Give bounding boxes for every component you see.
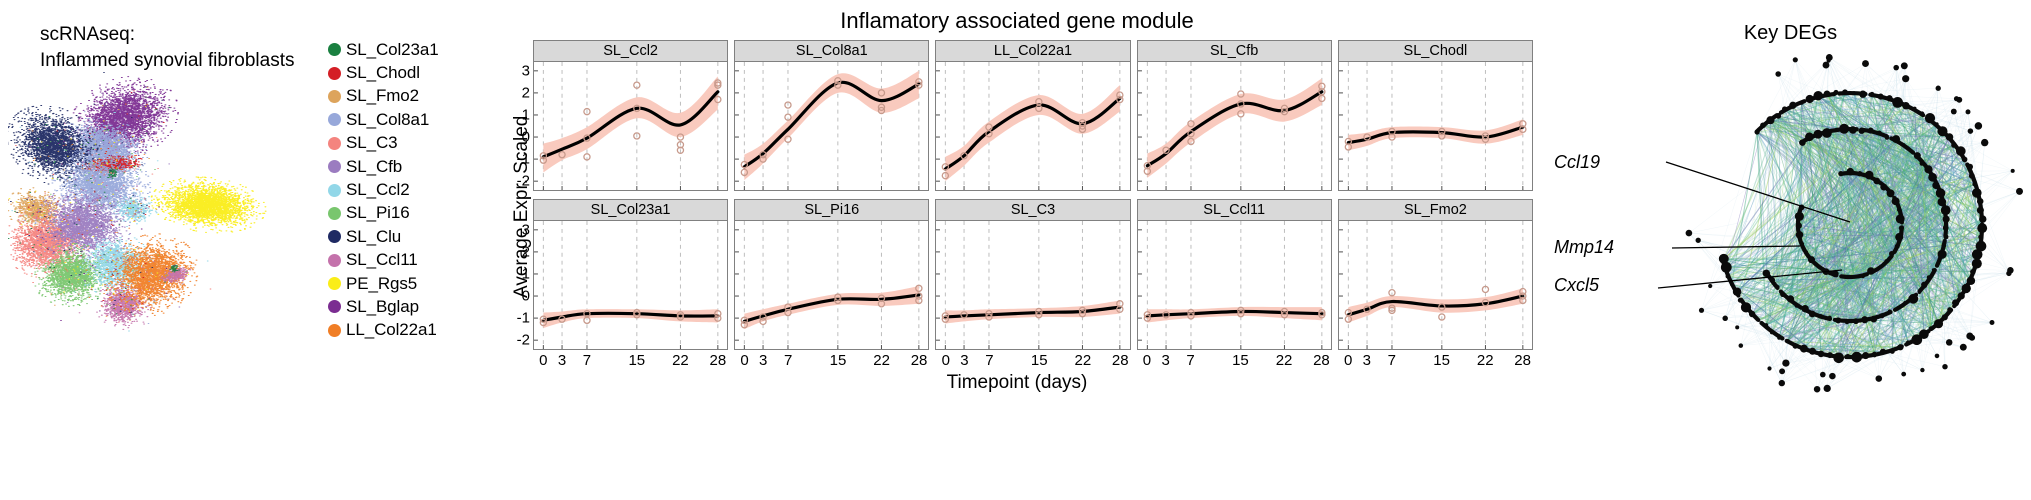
facet-plot-area — [1137, 62, 1332, 191]
legend-item[interactable]: SL_Fmo2 — [328, 85, 498, 108]
legend-item-label: SL_Ccl2 — [346, 180, 410, 200]
facet-cell: SL_Ccl11037152228 — [1137, 199, 1332, 350]
y-tick-label: 2 — [522, 84, 530, 101]
y-tick-label: -2 — [517, 332, 530, 349]
umap-scatter — [8, 60, 308, 350]
x-tick-label: 0 — [1143, 352, 1151, 369]
legend-item-label: SL_Col23a1 — [346, 40, 439, 60]
legend-color-dot — [328, 137, 341, 150]
facet-cell: SL_Col23a13210-1-2037152228 — [533, 199, 728, 350]
facet-strip-label: LL_Col22a1 — [935, 40, 1130, 62]
x-tick-label: 3 — [1363, 352, 1371, 369]
facet-strip-label: SL_Col23a1 — [533, 199, 728, 221]
facet-strip-label: SL_C3 — [935, 199, 1130, 221]
legend-item-label: SL_Bglap — [346, 297, 419, 317]
facet-cell: SL_Pi16037152228 — [734, 199, 929, 350]
x-tick-label: 15 — [1232, 352, 1249, 369]
facet-plot-area: 037152228 — [935, 221, 1130, 350]
y-tick-label: 2 — [522, 243, 530, 260]
x-tick-label: 15 — [830, 352, 847, 369]
legend-item[interactable]: SL_Ccl11 — [328, 249, 498, 272]
legend-color-dot — [328, 207, 341, 220]
legend-item-label: SL_Chodl — [346, 63, 420, 83]
facet-plot-area — [1338, 62, 1533, 191]
legend-color-dot — [328, 277, 341, 290]
y-tick-label: 0 — [522, 129, 530, 146]
x-tick-label: 7 — [1388, 352, 1396, 369]
x-tick-label: 28 — [709, 352, 726, 369]
network-graph — [1550, 50, 2031, 395]
facet-plot-area: 037152228 — [1338, 221, 1533, 350]
y-tick-label: 3 — [522, 221, 530, 238]
y-tick-label: -2 — [517, 173, 530, 190]
facet-plot-area: 3210-1-2 — [533, 62, 728, 191]
x-tick-label: 3 — [759, 352, 767, 369]
legend-color-dot — [328, 43, 341, 56]
network-panel: Key DEGs Ccl19 Mmp14 Cxcl5 — [1550, 0, 2031, 400]
legend-item-label: PE_Rgs5 — [346, 274, 417, 294]
x-tick-label: 0 — [539, 352, 547, 369]
facet-plot-area: 3210-1-2037152228 — [533, 221, 728, 350]
figure-root: scRNAseq: Inflammed synovial fibroblasts… — [0, 0, 2031, 500]
x-tick-label: 3 — [1161, 352, 1169, 369]
x-tick-label: 0 — [942, 352, 950, 369]
x-tick-label: 22 — [1276, 352, 1293, 369]
legend-item-label: SL_Fmo2 — [346, 86, 419, 106]
network-title: Key DEGs — [1550, 22, 2031, 45]
legend-item[interactable]: SL_Col23a1 — [328, 38, 498, 61]
facet-strip-label: SL_Ccl2 — [533, 40, 728, 62]
legend-color-dot — [328, 254, 341, 267]
y-tick-label: -1 — [517, 310, 530, 327]
x-tick-label: 7 — [985, 352, 993, 369]
facet-strip-label: SL_Col8a1 — [734, 40, 929, 62]
facet-strip-label: SL_Pi16 — [734, 199, 929, 221]
legend-color-dot — [328, 160, 341, 173]
x-tick-label: 22 — [1075, 352, 1092, 369]
legend-item-label: SL_Ccl11 — [346, 250, 418, 270]
legend-item[interactable]: SL_Chodl — [328, 61, 498, 84]
x-tick-label: 3 — [558, 352, 566, 369]
legend-color-dot — [328, 113, 341, 126]
x-tick-label: 28 — [1514, 352, 1531, 369]
x-tick-label: 15 — [628, 352, 645, 369]
x-tick-label: 7 — [583, 352, 591, 369]
legend-item-label: SL_Cfb — [346, 157, 402, 177]
x-tick-label: 15 — [1433, 352, 1450, 369]
legend-item[interactable]: SL_Cfb — [328, 155, 498, 178]
x-tick-label: 28 — [1112, 352, 1129, 369]
facet-strip-label: SL_Fmo2 — [1338, 199, 1533, 221]
facet-plot-area — [734, 62, 929, 191]
network-label-cxcl5: Cxcl5 — [1554, 275, 1599, 296]
x-tick-label: 22 — [873, 352, 890, 369]
legend-item-label: SL_C3 — [346, 133, 397, 153]
y-tick-label: 1 — [522, 265, 530, 282]
y-tick-label: 3 — [522, 62, 530, 79]
legend-color-dot — [328, 230, 341, 243]
y-axis-label: Average Expr. Scaled — [491, 80, 517, 300]
legend-item-label: SL_Pi16 — [346, 203, 410, 223]
legend-item[interactable]: LL_Col22a1 — [328, 319, 498, 342]
facet-cell: SL_Cfb — [1137, 40, 1332, 191]
network-label-mmp14: Mmp14 — [1554, 237, 1614, 258]
x-tick-label: 15 — [1031, 352, 1048, 369]
legend-item[interactable]: SL_Col8a1 — [328, 108, 498, 131]
umap-legend: SL_Col23a1SL_ChodlSL_Fmo2SL_Col8a1SL_C3S… — [328, 38, 498, 342]
x-tick-label: 0 — [740, 352, 748, 369]
y-tick-label: -1 — [517, 151, 530, 168]
facet-cell: SL_Col8a1 — [734, 40, 929, 191]
legend-item[interactable]: SL_C3 — [328, 132, 498, 155]
legend-color-dot — [328, 67, 341, 80]
facet-strip-label: SL_Chodl — [1338, 40, 1533, 62]
facet-cell: SL_Ccl23210-1-2 — [533, 40, 728, 191]
y-tick-label: 0 — [522, 288, 530, 305]
legend-item[interactable]: SL_Pi16 — [328, 202, 498, 225]
facet-cell: LL_Col22a1 — [935, 40, 1130, 191]
legend-item[interactable]: SL_Clu — [328, 225, 498, 248]
facet-cell: SL_Chodl — [1338, 40, 1533, 191]
x-tick-label: 7 — [784, 352, 792, 369]
facet-grid: SL_Ccl23210-1-2SL_Col8a1LL_Col22a1SL_Cfb… — [533, 40, 1533, 350]
legend-item-label: SL_Clu — [346, 227, 401, 247]
facet-cell: SL_Fmo2037152228 — [1338, 199, 1533, 350]
legend-item[interactable]: SL_Ccl2 — [328, 178, 498, 201]
legend-color-dot — [328, 90, 341, 103]
x-tick-label: 7 — [1186, 352, 1194, 369]
facet-cell: SL_C3037152228 — [935, 199, 1130, 350]
x-tick-label: 22 — [1477, 352, 1494, 369]
network-label-ccl19: Ccl19 — [1554, 152, 1600, 173]
x-axis-label: Timepoint (days) — [487, 372, 1547, 394]
x-tick-label: 0 — [1344, 352, 1352, 369]
facet-plot-area: 037152228 — [1137, 221, 1332, 350]
legend-color-dot — [328, 300, 341, 313]
x-tick-label: 28 — [911, 352, 928, 369]
facet-title: Inflamatory associated gene module — [487, 8, 1547, 34]
facet-plot-area — [935, 62, 1130, 191]
legend-item-label: SL_Col8a1 — [346, 110, 429, 130]
x-tick-label: 28 — [1313, 352, 1330, 369]
legend-item-label: LL_Col22a1 — [346, 320, 437, 340]
x-tick-label: 22 — [672, 352, 689, 369]
legend-item[interactable]: PE_Rgs5 — [328, 272, 498, 295]
facet-strip-label: SL_Ccl11 — [1137, 199, 1332, 221]
legend-item[interactable]: SL_Bglap — [328, 295, 498, 318]
legend-color-dot — [328, 324, 341, 337]
legend-color-dot — [328, 184, 341, 197]
umap-panel: scRNAseq: Inflammed synovial fibroblasts… — [0, 0, 500, 400]
facet-strip-label: SL_Cfb — [1137, 40, 1332, 62]
gene-module-panel: Inflamatory associated gene module Avera… — [487, 0, 1547, 400]
facet-plot-area: 037152228 — [734, 221, 929, 350]
y-tick-label: 1 — [522, 106, 530, 123]
x-tick-label: 3 — [960, 352, 968, 369]
